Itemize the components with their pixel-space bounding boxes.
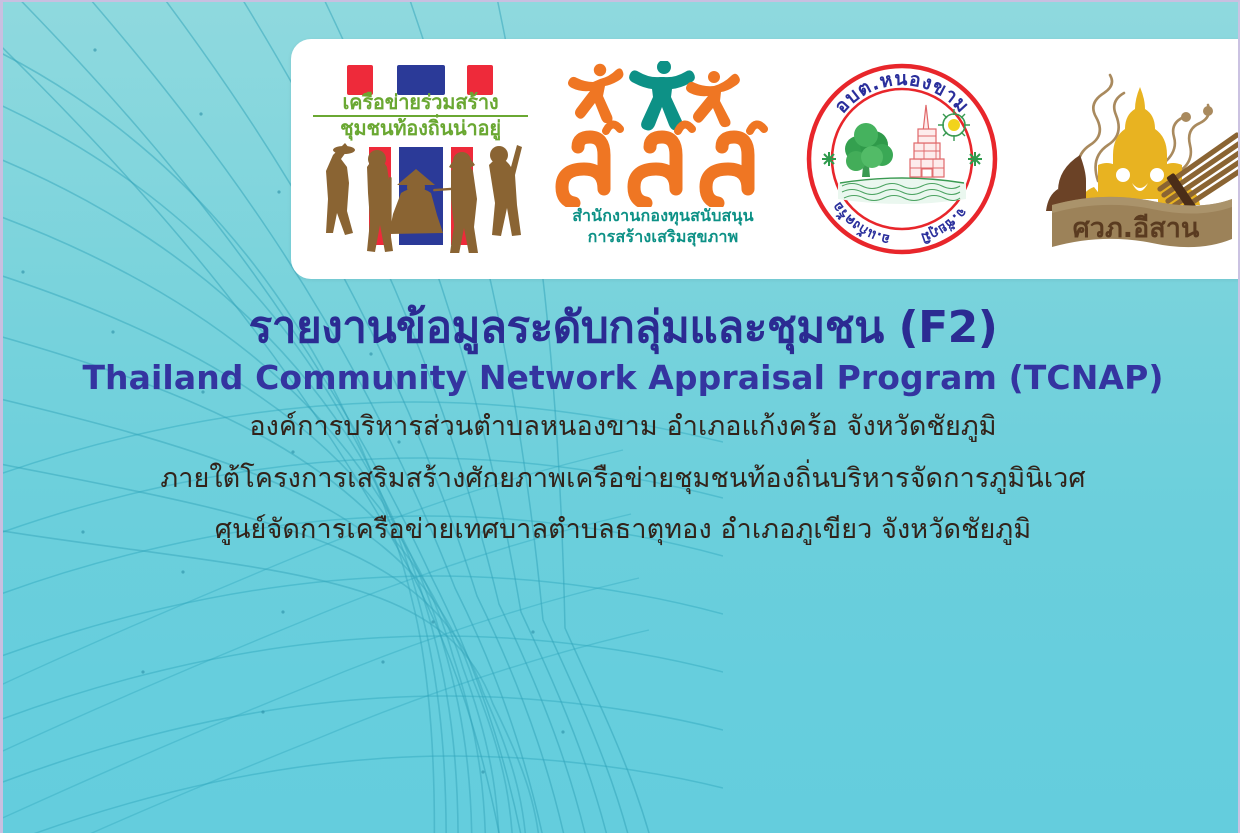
nong-kham-sao-seal: อบต.หนองขาม อ.แก้งคร้อ จ.ชัยภูมิ — [802, 59, 1002, 259]
sawaphor-isan-wordmark: ศวภ.อีสาน — [1073, 213, 1200, 244]
organization-line: องค์การบริหารส่วนตำบลหนองขาม อำเภอแก้งคร… — [3, 412, 1240, 442]
page-subtitle-english: Thailand Community Network Appraisal Pro… — [3, 357, 1240, 398]
project-line: ภายใต้โครงการเสริมสร้างศักยภาพเครือข่ายช… — [3, 464, 1240, 494]
sss-wordmark — [554, 115, 772, 207]
report-cover-page: เครือข่ายร่วมสร้าง ชุมชนท้องถิ่นน่าอยู่ — [0, 0, 1240, 833]
community-network-logo-text: เครือข่ายร่วมสร้าง ชุมชนท้องถิ่นน่าอยู่ — [313, 91, 528, 140]
sss-logo-subtext: สำนักงานกองทุนสนับสนุน การสร้างเสริมสุขภ… — [554, 205, 772, 248]
community-network-logo: เครือข่ายร่วมสร้าง ชุมชนท้องถิ่นน่าอยู่ — [313, 59, 528, 259]
thaihealth-sss-logo: สำนักงานกองทุนสนับสนุน การสร้างเสริมสุขภ… — [554, 57, 772, 262]
community-silhouettes-icon — [323, 137, 523, 253]
sss-subtext-line2: การสร้างเสริมสุขภาพ — [554, 226, 772, 248]
sss-subtext-line1: สำนักงานกองทุนสนับสนุน — [554, 205, 772, 227]
community-network-line1: เครือข่ายร่วมสร้าง — [313, 91, 528, 117]
community-network-line2: ชุมชนท้องถิ่นน่าอยู่ — [340, 116, 501, 140]
title-block: รายงานข้อมูลระดับกลุ่มและชุมชน (F2) Thai… — [3, 302, 1240, 545]
sawaphor-isan-logo: ศวภ.อีสาน — [1032, 59, 1240, 259]
logo-card: เครือข่ายร่วมสร้าง ชุมชนท้องถิ่นน่าอยู่ — [291, 39, 1240, 279]
page-title: รายงานข้อมูลระดับกลุ่มและชุมชน (F2) — [3, 302, 1240, 355]
center-line: ศูนย์จัดการเครือข่ายเทศบาลตำบลธาตุทอง อำ… — [3, 515, 1240, 545]
